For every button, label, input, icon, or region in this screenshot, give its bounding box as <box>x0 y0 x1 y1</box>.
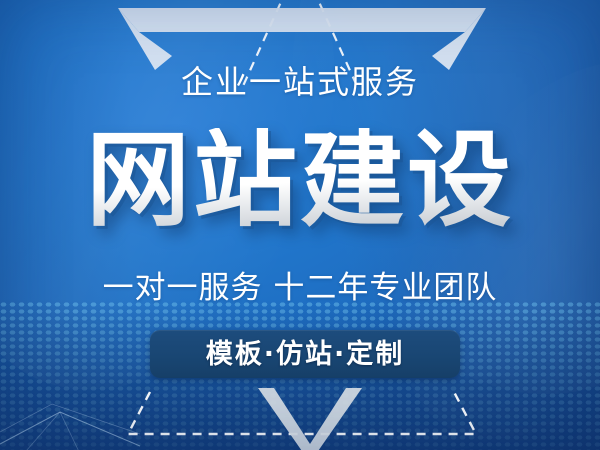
banner-top-headline: 企业一站式服务 <box>0 66 600 98</box>
banner-main-title: 网站建设 <box>0 128 600 232</box>
promo-banner: 企业一站式服务 网站建设 一对一服务 十二年专业团队 模板·仿站·定制 <box>0 0 600 450</box>
service-type-badge: 模板·仿站·定制 <box>150 330 460 378</box>
service-type-badge-label: 模板·仿站·定制 <box>206 341 405 368</box>
banner-subtitle: 一对一服务 十二年专业团队 <box>0 273 600 304</box>
